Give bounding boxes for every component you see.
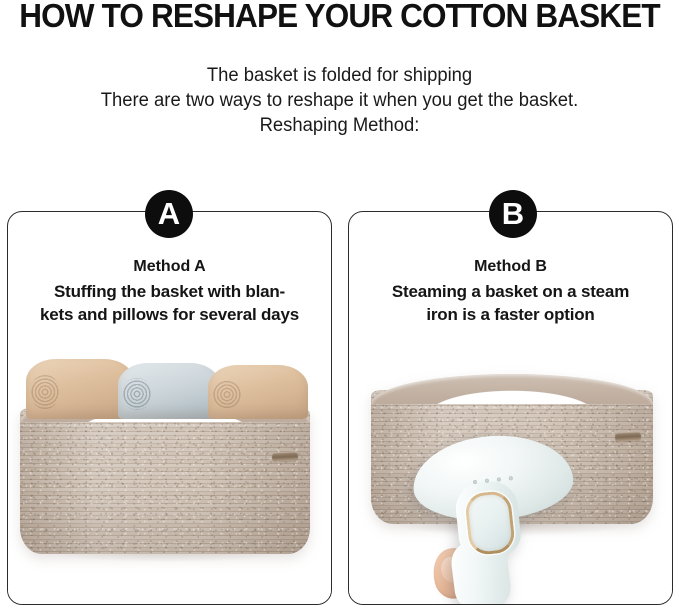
method-a-desc-line-1: Stuffing the basket with blan- (7, 280, 332, 303)
method-b-text: Method B Steaming a basket on a steam ir… (348, 256, 673, 326)
method-b-photo (349, 344, 672, 604)
basket-handle-icon (615, 431, 641, 441)
subtitle-line-3: Reshaping Method: (10, 113, 669, 138)
infographic-page: HOW TO RESHAPE YOUR COTTON BASKET The ba… (0, 0, 679, 611)
subtitle-line-1: The basket is folded for shipping (10, 63, 669, 88)
basket-rim (371, 374, 653, 404)
method-a-photo (8, 344, 331, 604)
basket-handle-icon (272, 451, 298, 461)
blanket-spiral-icon (122, 378, 152, 410)
method-a-description: Stuffing the basket with blan- kets and … (7, 280, 332, 326)
blanket-roll-gray-center (118, 363, 220, 419)
method-b-title: Method B (348, 256, 673, 278)
basket-woven-body (20, 408, 310, 554)
page-title: HOW TO RESHAPE YOUR COTTON BASKET (15, 0, 663, 34)
method-b-badge: B (489, 190, 537, 238)
subtitle-block: The basket is folded for shipping There … (10, 63, 669, 138)
subtitle-line-2: There are two ways to reshape it when yo… (10, 88, 669, 113)
method-b-desc-line-2: iron is a faster option (348, 303, 673, 326)
garment-steamer-icon (413, 436, 573, 604)
rolled-blankets-group (26, 351, 304, 419)
method-a-text: Method A Stuffing the basket with blan- … (7, 256, 332, 326)
method-a-desc-line-2: kets and pillows for several days (7, 303, 332, 326)
method-a-badge: A (145, 190, 193, 238)
blanket-spiral-icon (30, 375, 60, 410)
blanket-roll-tan-right (208, 365, 308, 419)
method-b-description: Steaming a basket on a steam iron is a f… (348, 280, 673, 326)
method-a-title: Method A (7, 256, 332, 278)
blanket-spiral-icon (212, 379, 242, 410)
steamer-gold-ring-button (464, 490, 516, 556)
method-b-desc-line-1: Steaming a basket on a steam (348, 280, 673, 303)
